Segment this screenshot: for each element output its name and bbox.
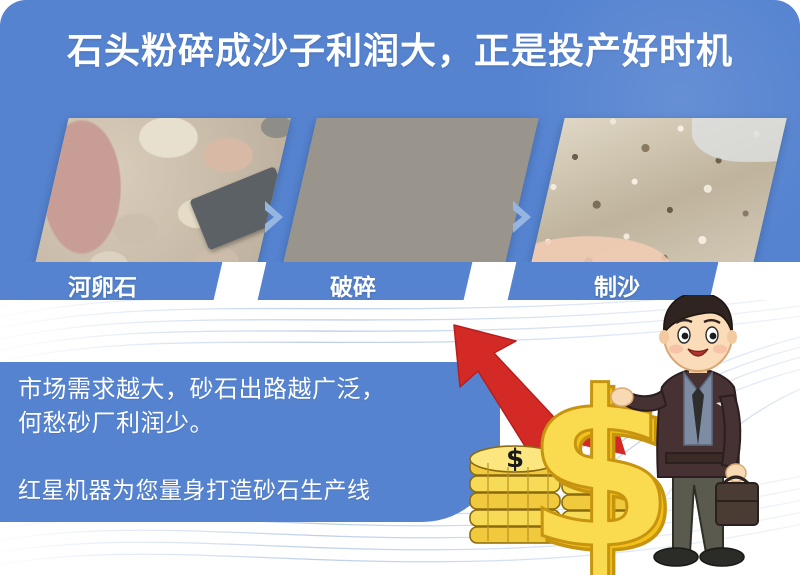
process-card-crushing[interactable] xyxy=(283,118,538,263)
river-pebbles-photo xyxy=(35,118,290,263)
message-primary: 市场需求越大，砂石出路越广泛， 何愁砂厂利润少。 xyxy=(18,372,386,440)
poster-canvas: 石头粉碎成沙子利润大，正是投产好时机 河卵石 破碎 制沙 市场需求越大，砂石出路… xyxy=(0,0,800,575)
svg-text:$: $ xyxy=(506,444,524,474)
message-line-1: 市场需求越大，砂石出路越广泛， xyxy=(18,372,386,406)
process-card-sand-making[interactable] xyxy=(531,118,786,263)
message-panel: 市场需求越大，砂石出路越广泛， 何愁砂厂利润少。 红星机器为您量身打造砂石生产线 xyxy=(0,362,500,522)
process-card-river-pebbles[interactable] xyxy=(35,118,290,263)
chevron-right-icon xyxy=(501,195,545,239)
manufactured-sand-photo xyxy=(531,118,786,263)
crushed-gravel-photo xyxy=(283,118,538,263)
message-secondary: 红星机器为您量身打造砂石生产线 xyxy=(18,474,371,508)
process-label-crushing: 破碎 xyxy=(330,268,376,300)
process-label-river-pebbles: 河卵石 xyxy=(68,268,137,300)
business-growth-illustration: $ $ $ $ xyxy=(430,295,800,575)
message-line-2: 何愁砂厂利润少。 xyxy=(18,406,386,440)
label-separator xyxy=(213,262,268,300)
svg-text:$: $ xyxy=(525,345,675,575)
chevron-right-icon xyxy=(253,195,297,239)
page-title: 石头粉碎成沙子利润大，正是投产好时机 xyxy=(0,22,800,74)
briefcase-icon xyxy=(716,477,758,525)
